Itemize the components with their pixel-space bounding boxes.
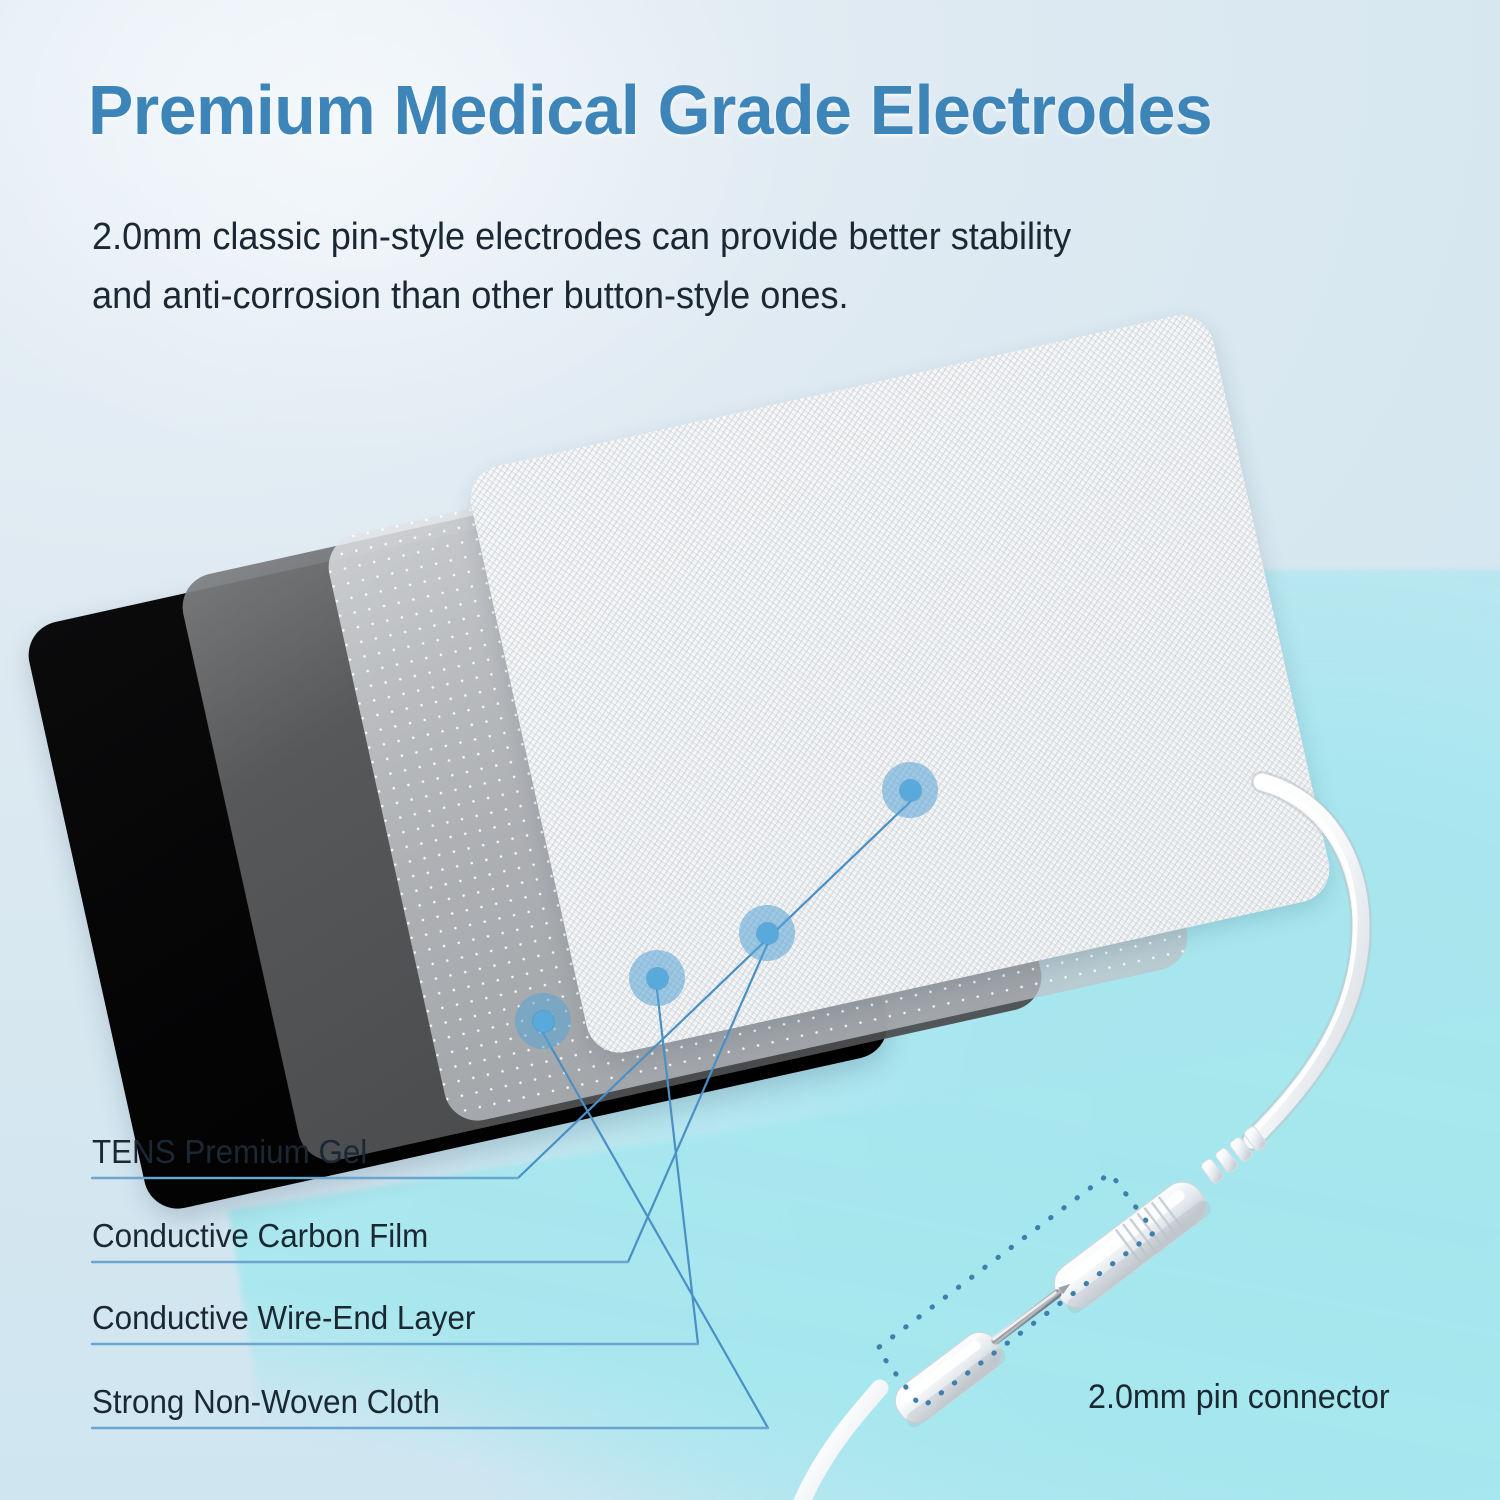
layer-label-carbon: Conductive Carbon Film bbox=[92, 1217, 428, 1255]
cable-tail bbox=[792, 1388, 888, 1500]
pin-connector-label: 2.0mm pin connector bbox=[1088, 1378, 1390, 1417]
marker-core bbox=[533, 1011, 554, 1032]
marker-core bbox=[757, 923, 778, 944]
marker-core bbox=[647, 968, 668, 989]
cable-wire bbox=[1252, 782, 1361, 1140]
cable-strain-relief bbox=[1200, 1125, 1268, 1184]
layer-label-wire: Conductive Wire-End Layer bbox=[92, 1299, 475, 1337]
layer-label-gel: TENS Premium Gel bbox=[92, 1133, 367, 1171]
marker-core bbox=[900, 780, 921, 801]
dotted-rect-icon bbox=[877, 1173, 1155, 1408]
metal-pin-icon bbox=[888, 1268, 1084, 1430]
infographic-canvas: Premium Medical Grade Electrodes 2.0mm c… bbox=[0, 0, 1500, 1500]
layer-label-cloth: Strong Non-Woven Cloth bbox=[92, 1383, 440, 1421]
electrode-cable-icon bbox=[0, 0, 1500, 1500]
